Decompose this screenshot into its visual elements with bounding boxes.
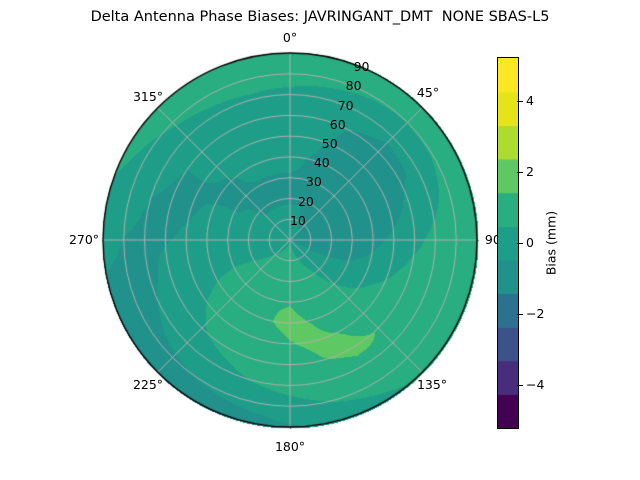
radial-tick-20: 20 (298, 195, 314, 209)
colorbar-tick-label: 2 (526, 165, 534, 179)
radial-tick-50: 50 (322, 137, 338, 151)
angular-tick-135: 135° (417, 378, 447, 392)
radial-tick-60: 60 (330, 118, 346, 132)
radial-tick-70: 70 (338, 99, 354, 113)
figure-canvas: Delta Antenna Phase Biases: JAVRINGANT_D… (0, 0, 640, 480)
radial-tick-80: 80 (346, 79, 362, 93)
colorbar-tick-label: 4 (526, 94, 534, 108)
colorbar: −4−2024 (497, 57, 519, 429)
angular-tick-225: 225° (133, 378, 163, 392)
colorbar-tick-mark (517, 243, 523, 244)
colorbar-tick-mark (517, 172, 523, 173)
angular-tick-180: 180° (275, 440, 305, 454)
colorbar-tick-mark (517, 314, 523, 315)
colorbar-tick-label: −2 (526, 307, 544, 321)
radial-tick-90: 90 (354, 60, 370, 74)
radial-tick-10: 10 (290, 214, 306, 228)
angular-tick-270: 270° (69, 233, 99, 247)
angular-tick-315: 315° (133, 90, 163, 104)
angular-tick-45: 45° (417, 86, 439, 100)
colorbar-tick-label: 0 (526, 236, 534, 250)
angular-tick-0: 0° (283, 31, 297, 45)
colorbar-tick-label: −4 (526, 378, 544, 392)
colorbar-tick-mark (517, 385, 523, 386)
colorbar-axis-label: Bias (mm) (544, 211, 559, 275)
radial-tick-30: 30 (306, 175, 322, 189)
colorbar-tick-mark (517, 101, 523, 102)
colorbar-gradient (497, 57, 519, 429)
page-title: Delta Antenna Phase Biases: JAVRINGANT_D… (0, 8, 640, 26)
radial-tick-40: 40 (314, 156, 330, 170)
